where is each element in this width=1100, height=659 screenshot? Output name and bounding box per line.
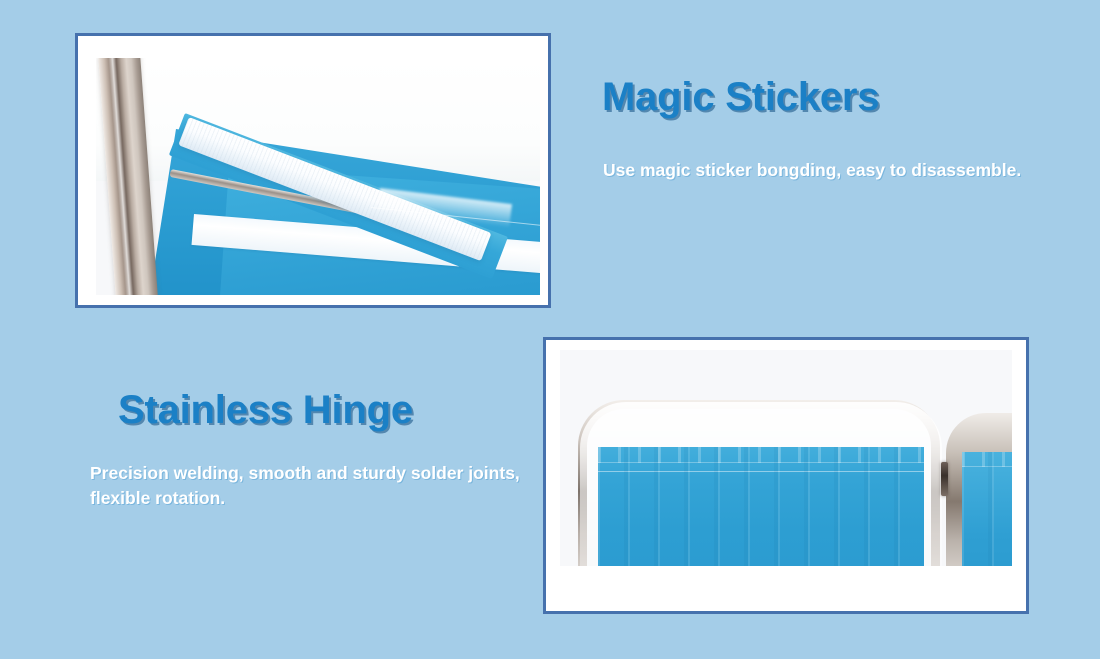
- stainless-hinge-photo-panel: [543, 337, 1029, 614]
- blue-curtain-second-panel: [962, 452, 1012, 566]
- magic-stickers-photo: [96, 58, 540, 295]
- curtain-pleats: [598, 447, 923, 566]
- stainless-hinge-title: Stainless Hinge: [118, 388, 413, 433]
- stainless-hinge-description: Precision welding, smooth and sturdy sol…: [90, 461, 520, 511]
- curtain-pleats: [962, 452, 1012, 566]
- blue-curtain: [598, 447, 923, 566]
- photo-mat: [78, 36, 548, 305]
- magic-stickers-photo-panel: [75, 33, 551, 308]
- steel-pole-highlight: [108, 58, 135, 295]
- magic-stickers-title: Magic Stickers: [602, 75, 879, 120]
- photo-mat: [546, 340, 1026, 611]
- stainless-hinge-photo: [560, 350, 1012, 566]
- banner-canvas: Magic Stickers Use magic sticker bongdin…: [0, 0, 1100, 659]
- hinge-joint: [941, 462, 948, 496]
- magic-stickers-description: Use magic sticker bongding, easy to disa…: [603, 158, 1023, 183]
